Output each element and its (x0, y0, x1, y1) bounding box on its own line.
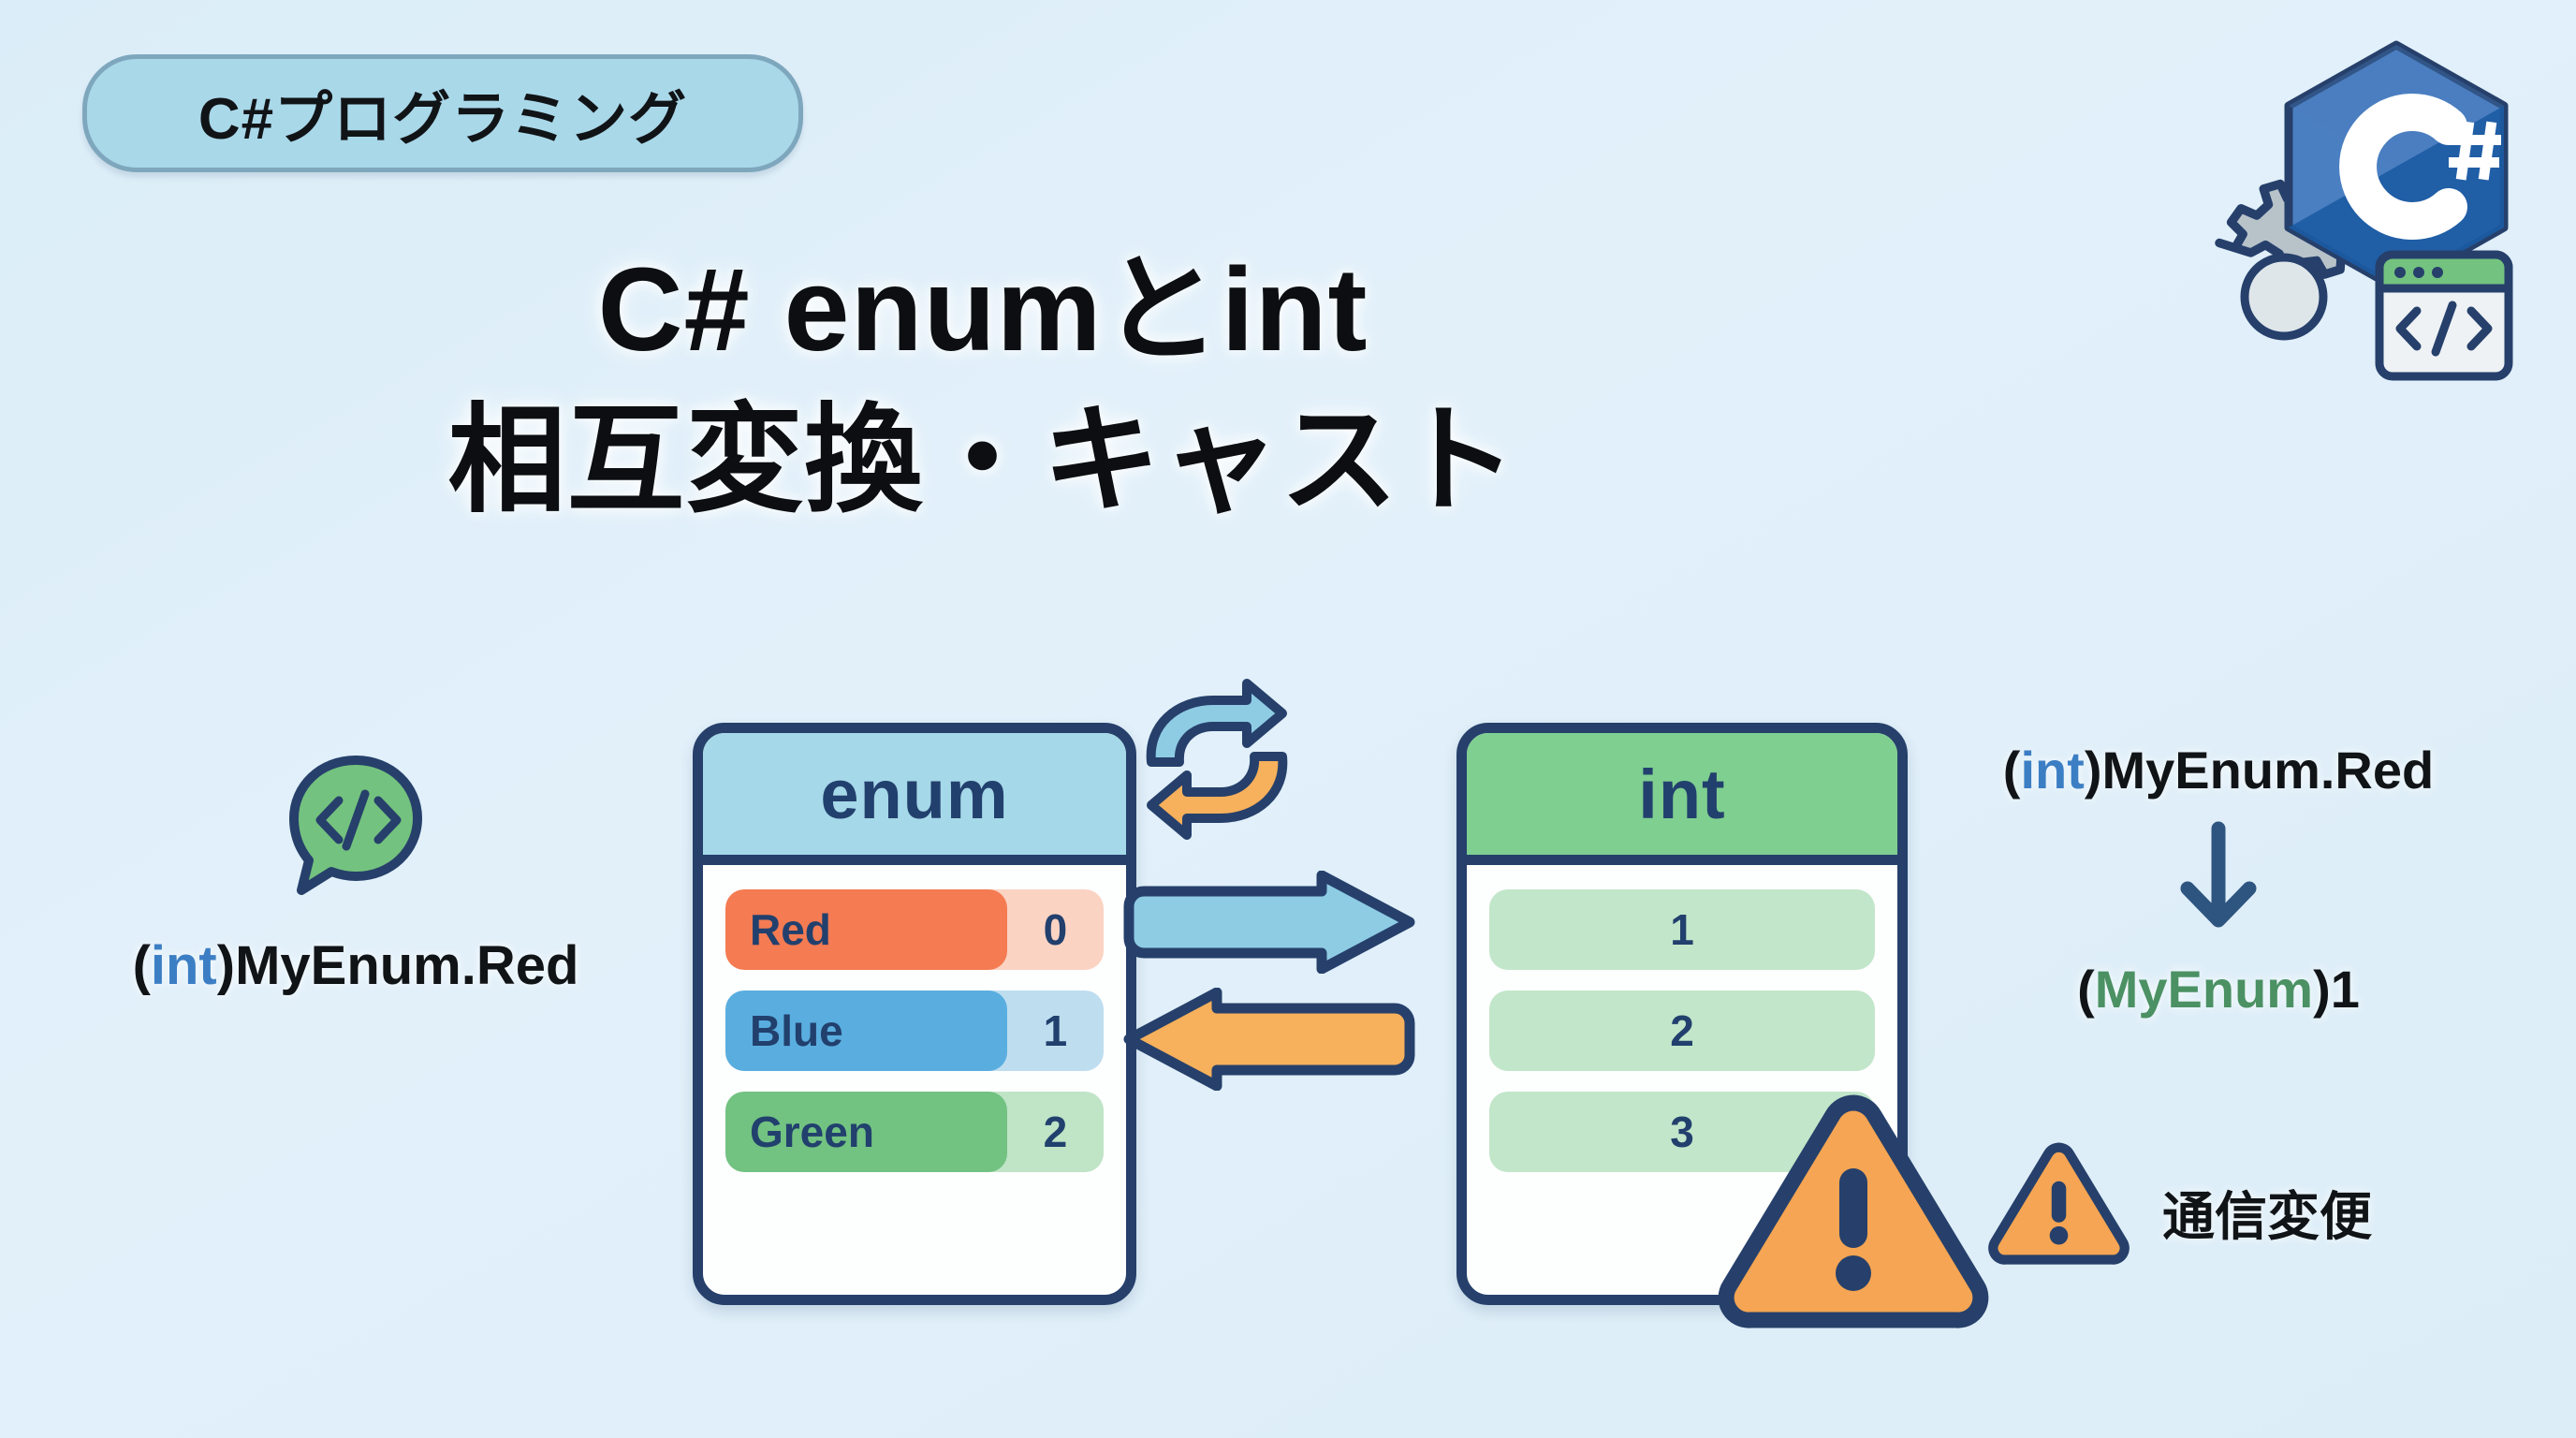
right-annotation: (int)MyEnum.Red (MyEnum)1 (1928, 740, 2509, 1020)
int-row[interactable]: 1 (1489, 889, 1875, 970)
int-card-title: int (1638, 755, 1725, 834)
expr-suffix: )MyEnum.Red (2085, 741, 2434, 800)
enum-row[interactable]: Blue 1 (725, 990, 1104, 1071)
right-cast-expression-from: (int)MyEnum.Red (1928, 740, 2509, 800)
paren-open: ( (133, 935, 151, 996)
int-row[interactable]: 2 (1489, 990, 1875, 1071)
category-badge[interactable]: C#プログラミング (82, 54, 803, 172)
enum-row[interactable]: Red 0 (725, 889, 1104, 970)
code-bubble-icon (281, 749, 431, 908)
enum-card: enum Red 0 Blue 1 Green 2 (693, 723, 1136, 1305)
enum-member-value: 0 (1007, 889, 1104, 970)
down-arrow-wrap (1928, 821, 2509, 942)
enum-card-header: enum (703, 733, 1126, 865)
left-cast-expression: (int)MyEnum.Red (37, 934, 674, 997)
warning-triangle-icon-small (1986, 1138, 2131, 1265)
keyword-int: int (2020, 741, 2084, 800)
arrow-right-blue (1120, 871, 1419, 974)
right-cast-expression-to: (MyEnum)1 (1928, 959, 2509, 1020)
arrow-left-orange (1120, 988, 1419, 1091)
left-annotation: (int)MyEnum.Red (37, 749, 674, 997)
csharp-logo (2181, 19, 2574, 393)
title-line-2: 相互変換・キャスト (0, 385, 1966, 536)
paren-open: ( (2003, 741, 2021, 800)
enum-member-value: 1 (1007, 990, 1104, 1071)
enum-member-value: 2 (1007, 1092, 1104, 1172)
warning-triangle-icon (1713, 1086, 1994, 1329)
expr-suffix: )MyEnum.Red (217, 935, 579, 996)
paren-open: ( (2077, 960, 2095, 1019)
enum-member-name: Red (725, 889, 1007, 970)
expr-suffix: )1 (2313, 960, 2360, 1019)
enum-member-name: Green (725, 1092, 1007, 1172)
keyword-myenum: MyEnum (2095, 960, 2313, 1019)
swap-arrows-icon (1123, 672, 1310, 850)
enum-card-title: enum (820, 755, 1008, 834)
enum-member-name: Blue (725, 990, 1007, 1071)
keyword-int: int (151, 935, 217, 996)
page-title: C# enumとint 相互変換・キャスト (0, 234, 1966, 536)
title-line-1: C# enumとint (0, 234, 1966, 385)
enum-row[interactable]: Green 2 (725, 1092, 1104, 1172)
int-card-header: int (1467, 733, 1897, 865)
poster-canvas: C#プログラミング C# enumとint 相互変換・キャスト (0, 0, 2576, 1438)
code-window-icon (2379, 255, 2509, 376)
warning-note-label: 通信変便 (2162, 1175, 2372, 1251)
enum-card-body: Red 0 Blue 1 Green 2 (703, 865, 1126, 1193)
arrow-down-navy (2176, 821, 2261, 937)
category-badge-label: C#プログラミング (198, 71, 687, 155)
